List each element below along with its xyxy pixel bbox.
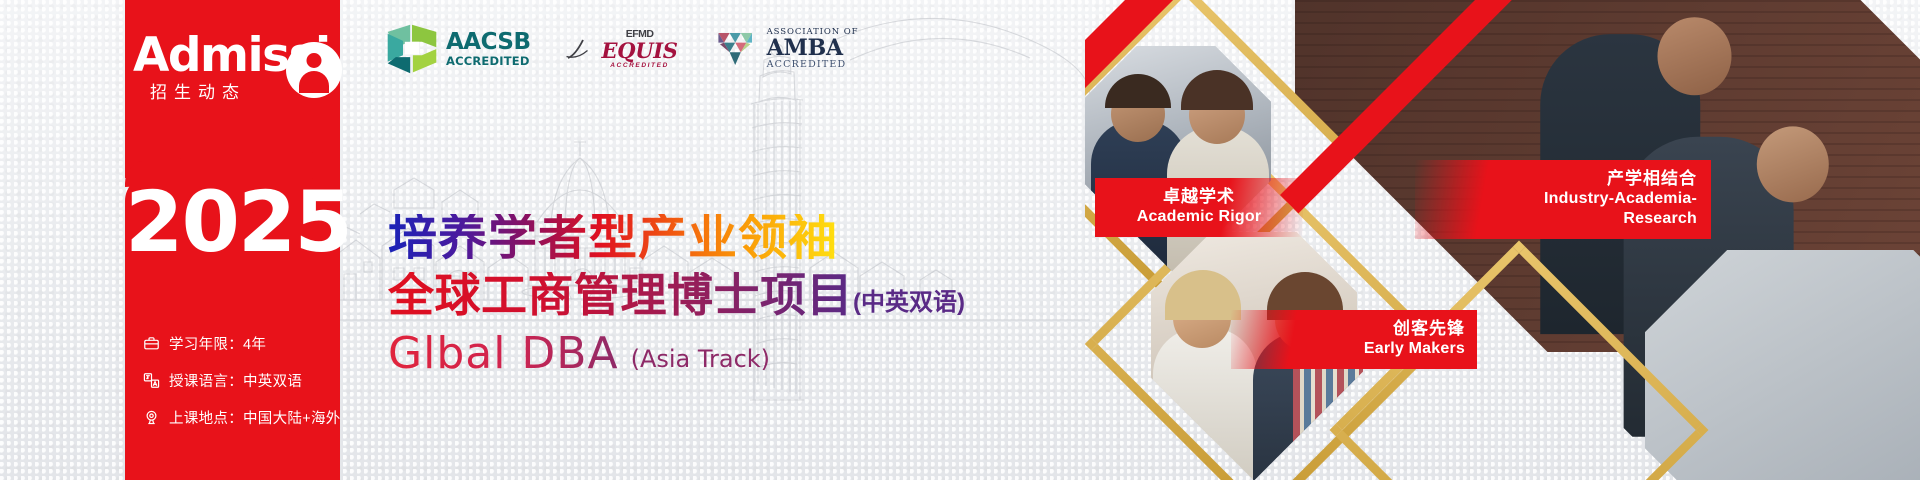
program-name-en: Glbal DBA (Asia Track) xyxy=(388,332,770,376)
aacsb-logo: AACSB ACCREDITED xyxy=(385,22,531,76)
info-text-duration: 学习年限：4年 xyxy=(169,333,266,354)
slogan-headline: 培养学者型产业领袖 xyxy=(388,214,838,263)
badge-academic-rigor: 卓越学术 Academic Rigor xyxy=(1095,178,1303,237)
aacsb-accredited: ACCREDITED xyxy=(446,56,531,68)
equis-swoosh-icon xyxy=(565,34,595,64)
year-label: 2025 xyxy=(125,180,340,264)
briefcase-icon xyxy=(143,335,160,352)
amba-accredited: ACCREDITED xyxy=(767,60,859,70)
badge-industry-academia-en: Industry-Academia- xyxy=(1429,189,1697,209)
amba-logo: ASSOCIATION OF AMBA ACCREDITED xyxy=(712,25,859,73)
location-pin-icon xyxy=(143,409,160,426)
program-name-cn: 全球工商管理博士项目 (中英双语) xyxy=(388,272,965,318)
program-name-en-suffix: (Asia Track) xyxy=(619,347,770,376)
aacsb-name: AACSB xyxy=(446,31,531,54)
admission-banner: Admissi 招生动态 2025 学习年限：4年 授课语言：中英双语 xyxy=(0,0,1920,480)
equis-accredited: ACCREDITED xyxy=(602,63,678,70)
admission-logo: Admissi 招生动态 xyxy=(125,28,340,118)
badge-industry-academia: 产学相结合 Industry-Academia- Research xyxy=(1415,160,1711,239)
program-name-en-main: Glbal DBA xyxy=(388,332,619,376)
amba-name: AMBA xyxy=(767,37,859,60)
person-circle-icon xyxy=(286,42,342,98)
badge-industry-academia-cn: 产学相结合 xyxy=(1429,168,1697,189)
info-text-language: 授课语言：中英双语 xyxy=(169,370,302,391)
program-info-list: 学习年限：4年 授课语言：中英双语 上课地点：中国大陆+海外 xyxy=(125,325,340,436)
badge-academic-rigor-en: Academic Rigor xyxy=(1105,207,1293,227)
badge-early-makers-en: Early Makers xyxy=(1243,339,1465,359)
aacsb-mark-icon xyxy=(385,22,439,76)
photo-collage: 卓越学术 Academic Rigor 产学相结合 Industry-Acade… xyxy=(1085,0,1920,480)
admission-logo-cn: 招生动态 xyxy=(150,78,246,103)
info-row-duration: 学习年限：4年 xyxy=(125,325,340,362)
info-row-language: 授课语言：中英双语 xyxy=(125,362,340,399)
language-icon xyxy=(143,372,160,389)
badge-industry-academia-en2: Research xyxy=(1429,209,1697,229)
badge-academic-rigor-cn: 卓越学术 xyxy=(1105,186,1293,207)
badge-early-makers-cn: 创客先锋 xyxy=(1243,318,1465,339)
equis-name: EQUIS xyxy=(602,40,678,61)
amba-diamond-icon xyxy=(712,25,760,73)
accreditation-logos: AACSB ACCREDITED EFMD EQUIS ACCREDITED xyxy=(385,22,858,76)
equis-logo: EFMD EQUIS ACCREDITED xyxy=(565,29,678,70)
program-name-cn-suffix: (中英双语) xyxy=(853,291,965,318)
info-text-location: 上课地点：中国大陆+海外 xyxy=(169,407,341,428)
program-name-cn-main: 全球工商管理博士项目 xyxy=(388,272,853,318)
info-row-location: 上课地点：中国大陆+海外 xyxy=(125,399,340,436)
badge-early-makers: 创客先锋 Early Makers xyxy=(1231,310,1477,369)
